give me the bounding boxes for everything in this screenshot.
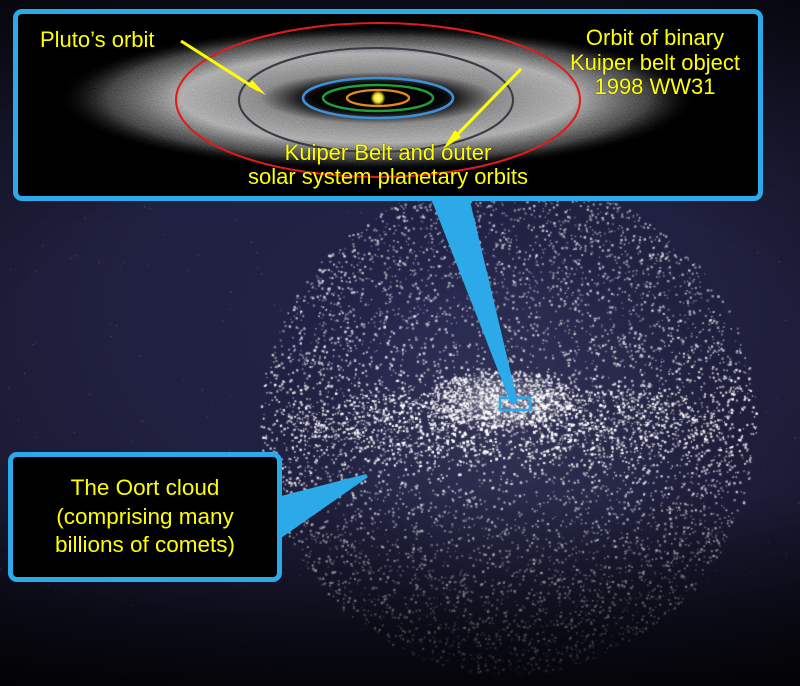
binary-kbo-label: Orbit of binary Kuiper belt object 1998 … [570,26,740,100]
diagram-canvas: Pluto’s orbit Orbit of binary Kuiper bel… [0,0,800,686]
pluto-orbit-label: Pluto’s orbit [40,28,155,53]
sun-icon [371,91,386,106]
kuiper-belt-caption: Kuiper Belt and outer solar system plane… [18,141,758,190]
oort-cloud-label: The Oort cloud (comprising many billions… [55,474,235,559]
kuiper-belt-panel[interactable]: Pluto’s orbit Orbit of binary Kuiper bel… [13,9,763,201]
oort-cloud-callout[interactable]: The Oort cloud (comprising many billions… [8,452,282,582]
